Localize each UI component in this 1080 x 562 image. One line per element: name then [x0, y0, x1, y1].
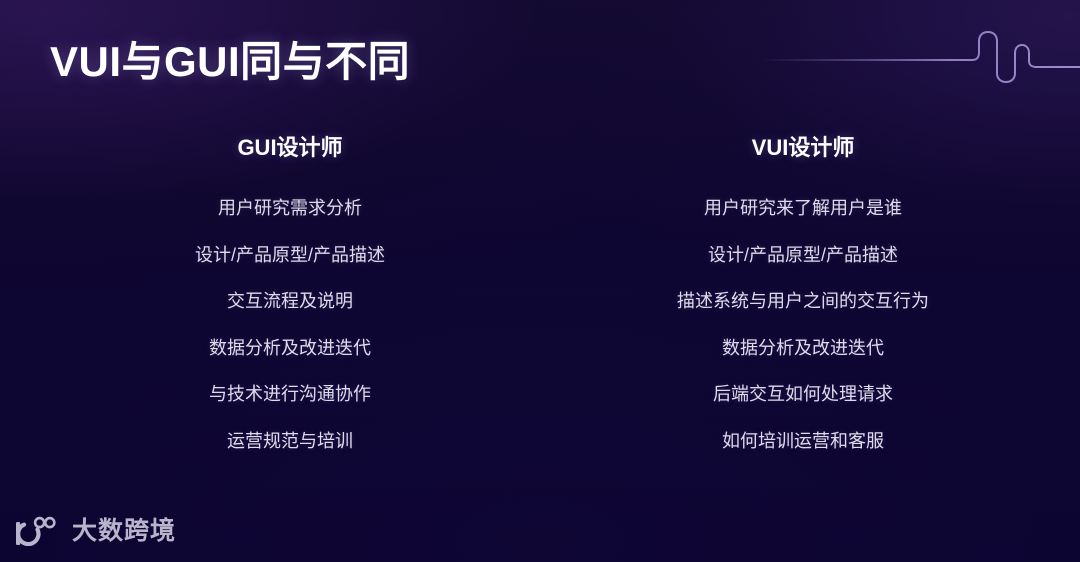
page-title: VUI与GUI同与不同	[50, 28, 410, 89]
list-item: 用户研究需求分析	[218, 195, 362, 221]
list-item: 运营规范与培训	[227, 428, 353, 454]
column-header-vui: VUI设计师	[752, 133, 855, 163]
list-item: 设计/产品原型/产品描述	[708, 242, 898, 268]
audio-waveform-icon	[760, 22, 1080, 92]
brand-infinity-icon	[16, 516, 62, 546]
list-item: 交互流程及说明	[227, 288, 353, 314]
list-item: 如何培训运营和客服	[722, 428, 884, 454]
brand-logo: 大数跨境	[16, 514, 176, 548]
slide: VUI与GUI同与不同 GUI设计师 用户研究需求分析 设计/产品原型/产品描述…	[0, 0, 1080, 562]
list-item: 设计/产品原型/产品描述	[195, 242, 385, 268]
column-gui-designer: GUI设计师 用户研究需求分析 设计/产品原型/产品描述 交互流程及说明 数据分…	[0, 133, 540, 474]
brand-name: 大数跨境	[72, 516, 176, 546]
list-item: 后端交互如何处理请求	[713, 381, 893, 407]
list-item: 用户研究来了解用户是谁	[704, 195, 902, 221]
list-item: 数据分析及改进迭代	[209, 335, 371, 361]
list-item: 数据分析及改进迭代	[722, 335, 884, 361]
column-header-gui: GUI设计师	[237, 133, 342, 163]
list-item: 与技术进行沟通协作	[209, 381, 371, 407]
column-vui-designer: VUI设计师 用户研究来了解用户是谁 设计/产品原型/产品描述 描述系统与用户之…	[540, 133, 1080, 474]
comparison-columns: GUI设计师 用户研究需求分析 设计/产品原型/产品描述 交互流程及说明 数据分…	[0, 133, 1080, 474]
list-item: 描述系统与用户之间的交互行为	[677, 288, 929, 314]
